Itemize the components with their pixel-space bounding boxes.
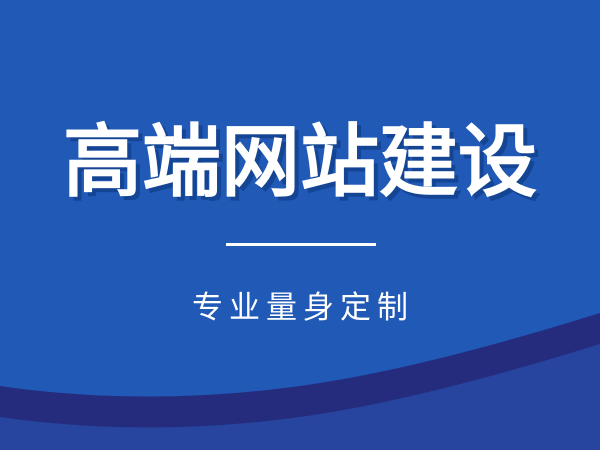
page-subtitle: 专业量身定制 <box>0 288 600 328</box>
page-title: 高端网站建设 <box>0 116 600 208</box>
title-divider <box>226 243 376 246</box>
banner-content: 高端网站建设 专业量身定制 <box>0 0 600 450</box>
promo-banner: 高端网站建设 专业量身定制 <box>0 0 600 450</box>
